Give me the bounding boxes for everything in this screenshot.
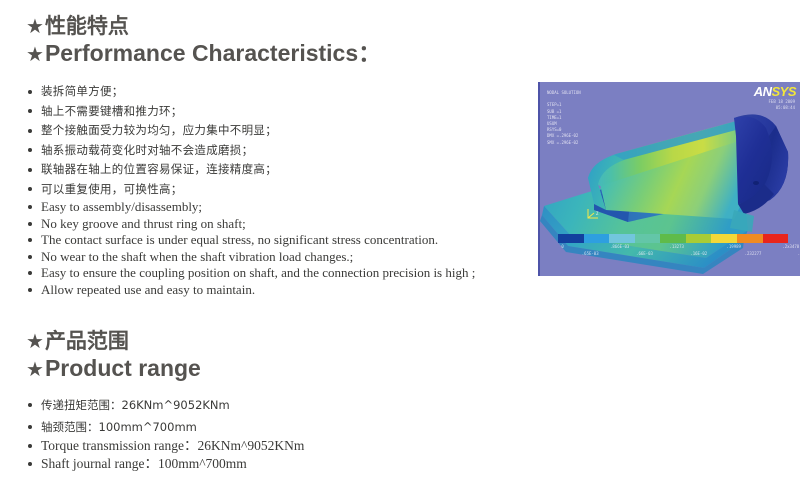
colorbar-segment [660, 234, 686, 243]
product-range-heading-block: ★产品范围 ★Product range [0, 329, 201, 383]
fea-colorbar-legend: 0.866E-03.13273.19989.2x3478 .65E-03.66E… [558, 234, 788, 257]
colorbar-tick-label: .16E-02 [690, 250, 707, 257]
coordinate-triad-icon: Z [585, 207, 601, 221]
list-item: Easy to ensure the coupling position on … [26, 265, 475, 282]
list-item: 联轴器在轴上的位置容易保证，连接精度高； [26, 160, 277, 180]
product-range-bullet-list-en: Torque transmission range：26KNm^9052KNm … [26, 437, 304, 473]
colorbar-gradient [558, 234, 788, 243]
ansys-logo: ANSYS [754, 85, 796, 98]
colorbar-segment [609, 234, 635, 243]
triad-axis-label: Z [596, 211, 599, 216]
list-item: Shaft journal range：100mm^700mm [26, 455, 304, 473]
fea-cap-marker [753, 181, 759, 185]
performance-heading-en: ★Performance Characteristics： [26, 39, 381, 68]
list-item: 传递扭矩范围：26KNm^9052KNm [26, 394, 230, 416]
list-item: 轴颈范围：100mm^700mm [26, 416, 230, 438]
colorbar-labels-upper: 0.866E-03.13273.19989.2x3478 [558, 243, 788, 250]
star-icon: ★ [26, 42, 44, 66]
star-icon: ★ [26, 357, 44, 381]
colorbar-tick-label: .13273 [669, 243, 683, 250]
colorbar-segment [763, 234, 789, 243]
performance-heading-block: ★性能特点 ★Performance Characteristics： [0, 14, 381, 68]
product-range-heading-cn: ★产品范围 [26, 329, 201, 354]
slide-page: ★性能特点 ★Performance Characteristics： 装拆简单… [0, 0, 811, 477]
product-range-bullet-list-cn: 传递扭矩范围：26KNm^9052KNm 轴颈范围：100mm^700mm [26, 394, 230, 438]
list-item: No wear to the shaft when the shaft vibr… [26, 249, 475, 266]
colorbar-tick-label: .2x3478 [782, 243, 799, 250]
list-item: 整个接触面受力较为均匀，应力集中不明显； [26, 121, 277, 141]
list-item: The contact surface is under equal stres… [26, 232, 475, 249]
colorbar-tick-label: .65E-03 [582, 250, 599, 257]
ansys-logo-part2: SYS [771, 84, 796, 99]
colorbar-segment [711, 234, 737, 243]
colorbar-tick-label: .19989 [726, 243, 740, 250]
star-icon: ★ [26, 329, 44, 353]
ansys-logo-part1: AN [754, 84, 772, 99]
star-icon: ★ [26, 14, 44, 38]
list-item: Allow repeated use and easy to maintain. [26, 282, 475, 299]
performance-heading-cn-text: 性能特点 [45, 14, 129, 38]
fea-header-left-text: NODAL SOLUTION STEP=1 SUB =1 TIME=1 USUM… [547, 90, 581, 146]
list-item: 装拆简单方便； [26, 82, 277, 102]
colorbar-tick-label: .866E-03 [610, 243, 629, 250]
ansys-fea-figure: Z ANSYS FEB 18 2009 05:08:44 NODAL SOLUT… [538, 82, 800, 276]
list-item: Torque transmission range：26KNm^9052KNm [26, 437, 304, 455]
colorbar-segment [558, 234, 584, 243]
text-content-column: ★性能特点 ★Performance Characteristics： 装拆简单… [0, 0, 510, 477]
colorbar-tick-label: .66E-03 [636, 250, 653, 257]
list-item: No key groove and thrust ring on shaft; [26, 216, 475, 233]
colorbar-segment [737, 234, 763, 243]
colorbar-segment [635, 234, 661, 243]
colorbar-tick-label: .232277 [745, 250, 762, 257]
list-item: 可以重复使用，可换性高； [26, 180, 277, 200]
fea-header-right-text: FEB 18 2009 05:08:44 [769, 99, 796, 111]
list-item: 轴系振动载荷变化时对轴不会造成磨损； [26, 141, 277, 161]
colorbar-tick-label: 0 [561, 243, 563, 250]
list-item: 轴上不需要键槽和推力环； [26, 102, 277, 122]
colorbar-labels-lower: .65E-03.66E-03.16E-02.232277.296E-02 [558, 250, 788, 257]
performance-bullet-list-en: Easy to assembly/disassembly; No key gro… [26, 199, 475, 298]
performance-bullet-list-cn: 装拆简单方便； 轴上不需要键槽和推力环； 整个接触面受力较为均匀，应力集中不明显… [26, 82, 277, 199]
product-range-heading-en: ★Product range [26, 354, 201, 383]
colorbar-segment [584, 234, 610, 243]
product-range-heading-cn-text: 产品范围 [45, 329, 129, 353]
colorbar-segment [686, 234, 712, 243]
performance-heading-en-text: Performance Characteristics： [45, 40, 381, 66]
product-range-heading-en-text: Product range [45, 355, 201, 381]
performance-heading-cn: ★性能特点 [26, 14, 381, 39]
colorbar-tick-label: .296E-02 [798, 250, 800, 257]
list-item: Easy to assembly/disassembly; [26, 199, 475, 216]
